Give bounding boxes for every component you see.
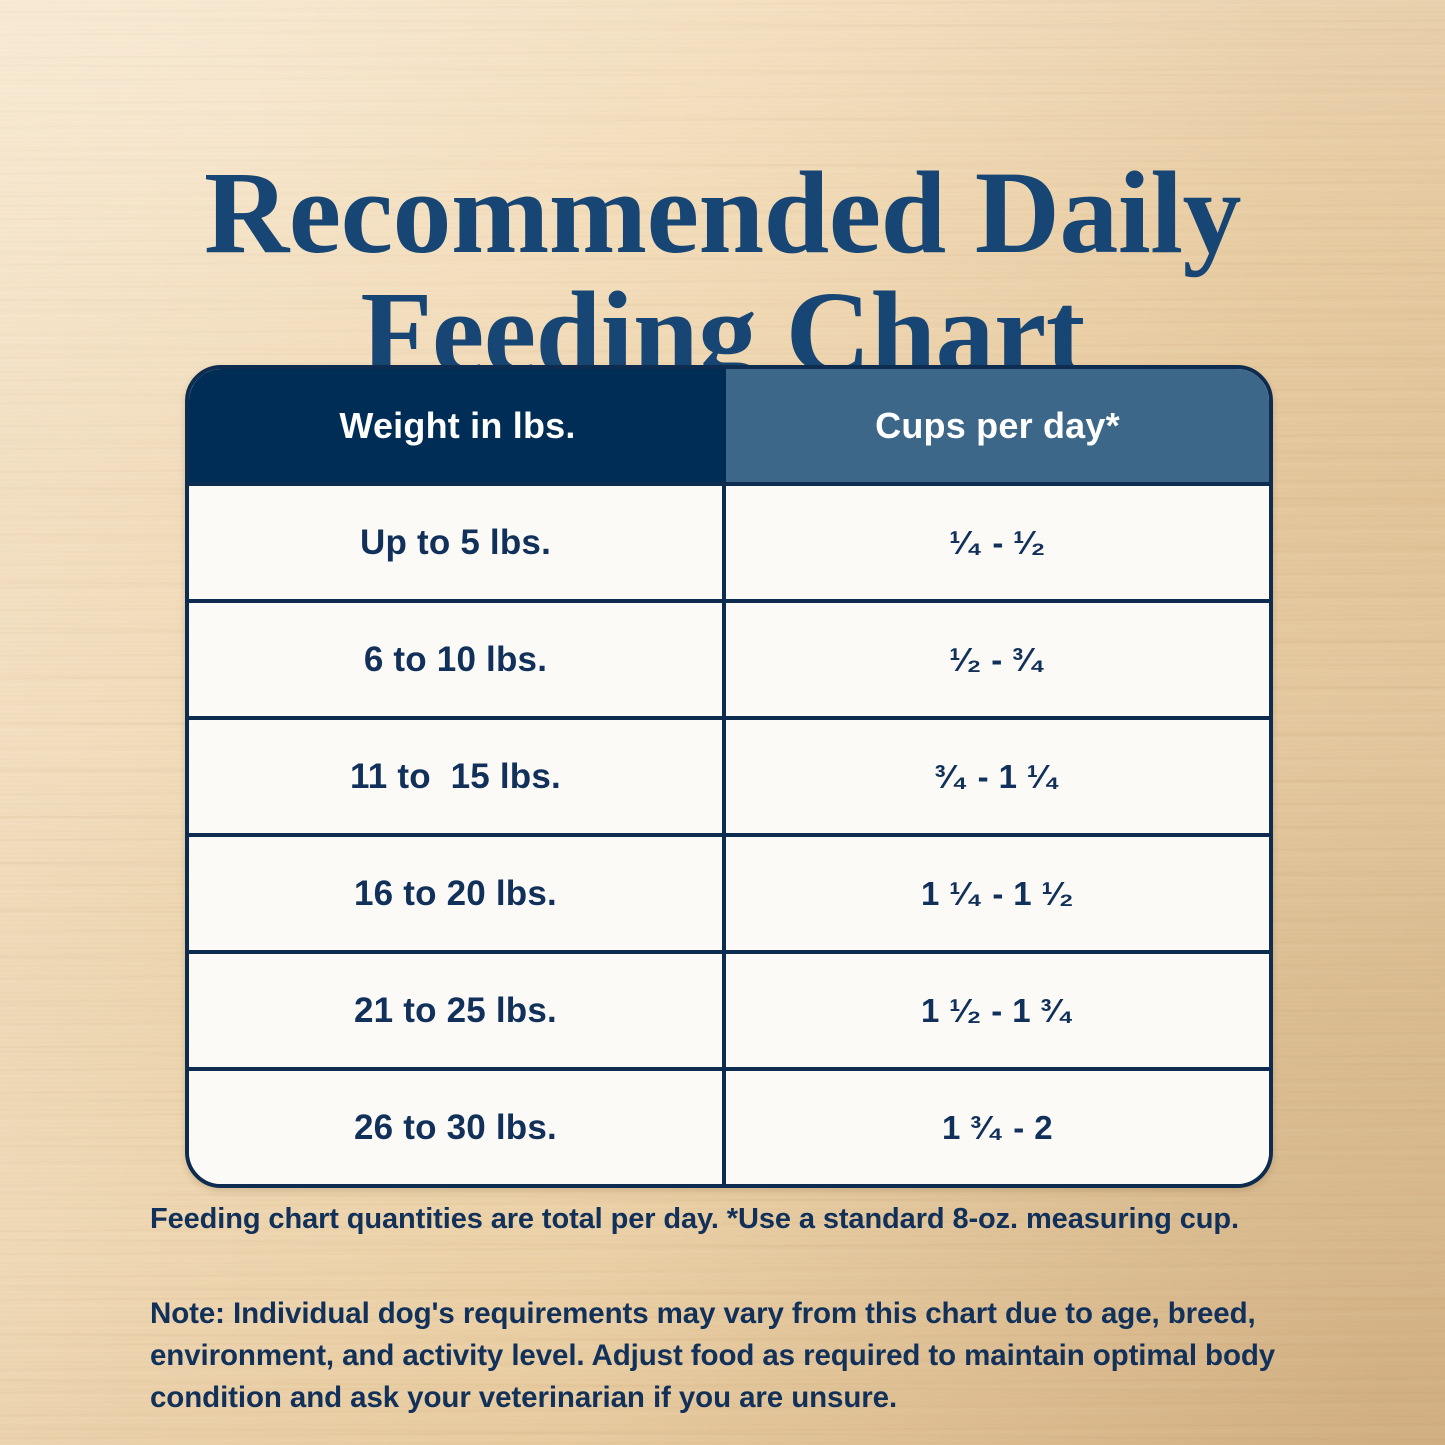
cell-weight: Up to 5 lbs. — [189, 486, 726, 599]
feeding-table: Weight in lbs. Cups per day* Up to 5 lbs… — [185, 365, 1273, 1188]
table-row: 11 to 15 lbs. ³⁄₄ - 1 ¹⁄₄ — [189, 716, 1269, 833]
cell-cups: 1 ¹⁄₂ - 1 ³⁄₄ — [726, 954, 1269, 1067]
column-header-weight: Weight in lbs. — [189, 369, 726, 482]
table-row: 26 to 30 lbs. 1 ³⁄₄ - 2 — [189, 1067, 1269, 1184]
table-row: 21 to 25 lbs. 1 ¹⁄₂ - 1 ³⁄₄ — [189, 950, 1269, 1067]
cell-weight: 26 to 30 lbs. — [189, 1071, 726, 1184]
footnote-text: Feeding chart quantities are total per d… — [150, 1201, 1340, 1239]
cell-weight: 16 to 20 lbs. — [189, 837, 726, 950]
note-paragraph: Note: Individual dog's requirements may … — [150, 1293, 1335, 1420]
note-body: Individual dog's requirements may vary f… — [150, 1297, 1275, 1415]
table-header-row: Weight in lbs. Cups per day* — [189, 369, 1269, 482]
cell-weight: 21 to 25 lbs. — [189, 954, 726, 1067]
page-title-line-1: Recommended Daily — [120, 153, 1325, 273]
feeding-chart-page: Recommended Daily Feeding Chart Weight i… — [0, 0, 1445, 1445]
cell-cups: ¹⁄₄ - ¹⁄₂ — [726, 486, 1269, 599]
column-header-cups: Cups per day* — [726, 369, 1269, 482]
cell-cups: ¹⁄₂ - ³⁄₄ — [726, 603, 1269, 716]
cell-cups: 1 ³⁄₄ - 2 — [726, 1071, 1269, 1184]
page-title: Recommended Daily Feeding Chart — [0, 153, 1445, 394]
cell-weight: 6 to 10 lbs. — [189, 603, 726, 716]
cell-weight: 11 to 15 lbs. — [189, 720, 726, 833]
table-row: 6 to 10 lbs. ¹⁄₂ - ³⁄₄ — [189, 599, 1269, 716]
content-layer: Recommended Daily Feeding Chart Weight i… — [0, 0, 1445, 1445]
note-label: Note: — [150, 1297, 225, 1330]
table-row: 16 to 20 lbs. 1 ¹⁄₄ - 1 ¹⁄₂ — [189, 833, 1269, 950]
cell-cups: ³⁄₄ - 1 ¹⁄₄ — [726, 720, 1269, 833]
cell-cups: 1 ¹⁄₄ - 1 ¹⁄₂ — [726, 837, 1269, 950]
table-row: Up to 5 lbs. ¹⁄₄ - ¹⁄₂ — [189, 482, 1269, 599]
